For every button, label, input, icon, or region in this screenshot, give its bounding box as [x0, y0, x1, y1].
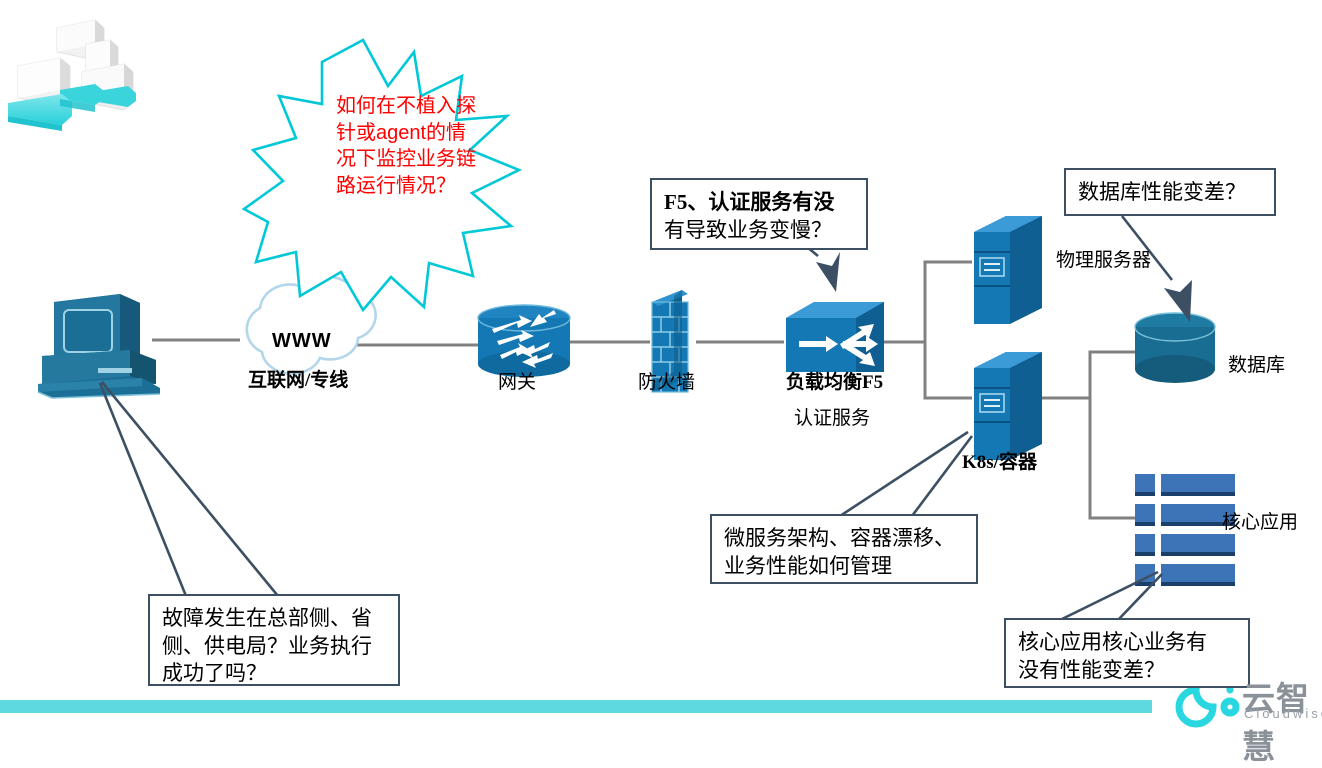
- fault-callout-line-3: 成功了吗？: [162, 660, 386, 688]
- leader-fault-2: [102, 382, 278, 596]
- arrowhead-f5: [816, 252, 840, 292]
- cloudwise-blocks-logo-icon: [8, 20, 136, 131]
- brand-name-latin: Cloudwise: [1244, 706, 1322, 721]
- label-k8s-server: K8s/容器: [962, 452, 1037, 474]
- footer-accent-bar: [0, 700, 1152, 713]
- label-core-application: 核心应用: [1222, 512, 1298, 534]
- starburst-line-3: 况下监控业务链: [336, 146, 511, 173]
- label-auth-service: 认证服务: [794, 408, 870, 430]
- microservice-callout-line-2: 业务性能如何管理: [724, 553, 964, 581]
- link-bracket-physical: [925, 262, 972, 342]
- cloud-inner-text: WWW: [272, 330, 332, 353]
- router-icon: [478, 305, 570, 377]
- fault-callout-line-2: 侧、供电局？业务执行: [162, 633, 386, 661]
- diagram-canvas: WWW 互联网/专线 网关 防火墙 负载均衡F5 认证服务 物理服务器 K8s/…: [0, 0, 1322, 722]
- core-app-callout: 核心应用核心业务有 没有性能变差？: [1004, 618, 1250, 688]
- desktop-computer-icon: [38, 294, 160, 398]
- server-tower-icon-physical: [974, 216, 1042, 324]
- microservice-callout: 微服务架构、容器漂移、 业务性能如何管理: [710, 514, 978, 584]
- label-gateway: 网关: [498, 372, 536, 394]
- link-bracket2-app: [1090, 398, 1136, 518]
- label-database: 数据库: [1228, 355, 1285, 377]
- load-balancer-icon: [786, 302, 884, 372]
- leader-microservice-1: [840, 432, 968, 516]
- app-stack-icon: [1135, 474, 1235, 586]
- leader-coreapp-1: [1060, 572, 1158, 620]
- fault-location-callout: 故障发生在总部侧、省 侧、供电局？业务执行 成功了吗？: [148, 594, 400, 686]
- f5-auth-callout: F5、认证服务有没 有导致业务变慢？: [650, 178, 868, 250]
- f5-callout-line-2: 有导致业务变慢？: [664, 217, 854, 245]
- database-cylinder-icon: [1135, 313, 1215, 383]
- label-firewall: 防火墙: [638, 372, 695, 394]
- link-bracket2-db: [1090, 352, 1136, 398]
- leader-fault-1: [100, 383, 186, 596]
- coreapp-callout-line-1: 核心应用核心业务有: [1018, 629, 1236, 657]
- fault-callout-line-1: 故障发生在总部侧、省: [162, 605, 386, 633]
- database-callout: 数据库性能变差？: [1064, 168, 1276, 216]
- microservice-callout-line-1: 微服务架构、容器漂移、: [724, 525, 964, 553]
- link-bracket-k8s: [925, 342, 972, 398]
- label-internet: 互联网/专线: [248, 370, 348, 392]
- starburst-line-2: 针或agent的情: [336, 120, 511, 147]
- f5-callout-line-1: F5、认证服务有没: [664, 189, 854, 217]
- starburst-line-1: 如何在不植入探: [336, 93, 511, 120]
- coreapp-callout-line-2: 没有性能变差？: [1018, 657, 1236, 685]
- label-physical-server: 物理服务器: [1056, 250, 1151, 272]
- db-callout-line-1: 数据库性能变差？: [1078, 179, 1262, 207]
- starburst-line-4: 路运行情况？: [336, 173, 511, 200]
- label-loadbalancer: 负载均衡F5: [786, 372, 883, 394]
- server-tower-icon-k8s: [974, 352, 1042, 460]
- starburst-text: 如何在不植入探 针或agent的情 况下监控业务链 路运行情况？: [336, 93, 511, 199]
